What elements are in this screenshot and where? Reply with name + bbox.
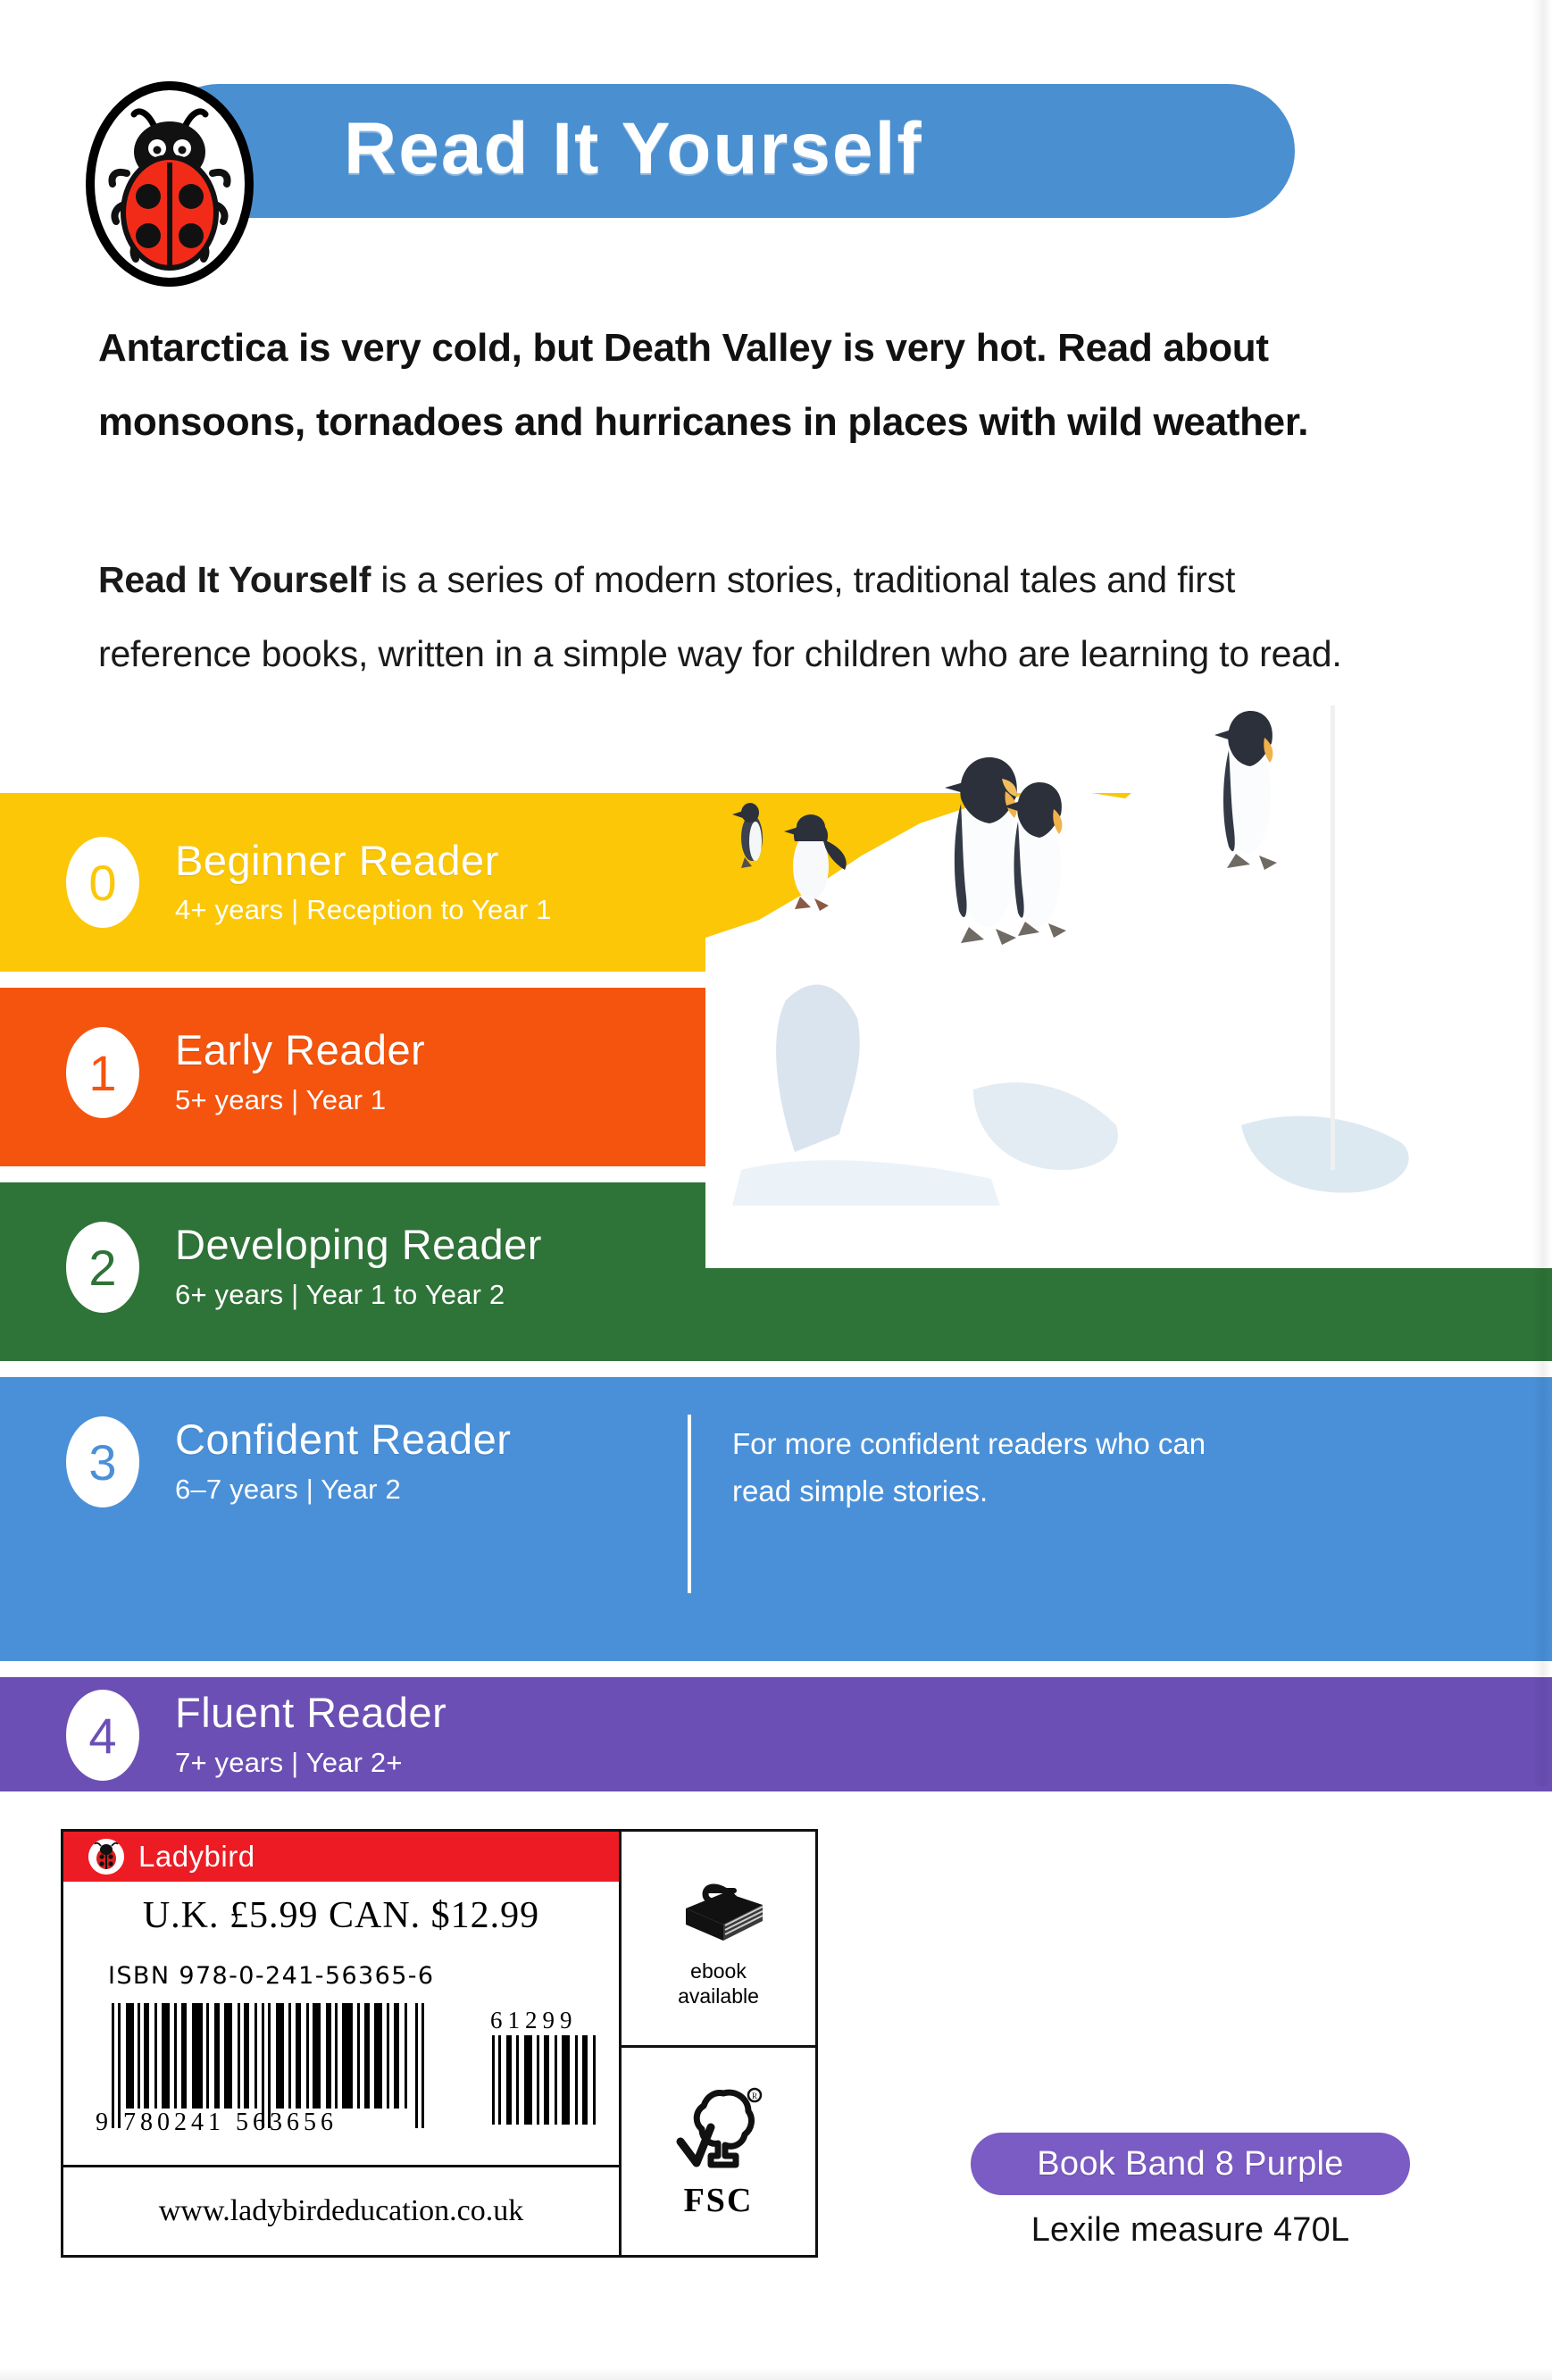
addon-barcode — [490, 2035, 606, 2125]
series-name-inline: Read It Yourself — [98, 559, 371, 600]
book-back-cover: Read It Yourself — [0, 0, 1552, 2380]
level-subtitle-2: 6+ years | Year 1 to Year 2 — [175, 1279, 505, 1311]
price-line: U.K. £5.99 CAN. $12.99 — [63, 1894, 619, 1937]
ebook-caption-line2: available — [678, 1983, 759, 2008]
reading-level-band-0: 0 Beginner Reader 4+ years | Reception t… — [0, 793, 1552, 972]
reading-level-band-3: 3 Confident Reader 6–7 years | Year 2 Fo… — [0, 1377, 1552, 1661]
ladybird-small-icon — [88, 1839, 124, 1875]
publisher-website[interactable]: www.ladybirdeducation.co.uk — [63, 2165, 619, 2255]
publisher-name: Ladybird — [138, 1840, 255, 1874]
series-title: Read It Yourself — [344, 100, 1237, 198]
fsc-label: FSC — [684, 2181, 754, 2220]
level-title-2: Developing Reader — [175, 1220, 542, 1269]
fsc-tree-icon: R — [670, 2081, 768, 2179]
svg-text:R: R — [751, 2092, 756, 2100]
level-number-circle-2: 2 — [66, 1222, 139, 1313]
ebook-caption-line1: ebook — [678, 1958, 759, 1983]
level-description-divider — [688, 1415, 691, 1593]
level-subtitle-0: 4+ years | Reception to Year 1 — [175, 894, 552, 926]
level-number-circle-0: 0 — [66, 837, 139, 928]
level-number-circle-4: 4 — [66, 1690, 139, 1781]
fsc-badge: R FSC — [622, 2045, 815, 2255]
addon-barcode-digits: 61299 — [490, 2007, 615, 2034]
level-description-3: For more confident readers who can read … — [732, 1420, 1268, 1515]
series-header: Read It Yourself — [0, 70, 1552, 230]
level-subtitle-1: 5+ years | Year 1 — [175, 1084, 386, 1116]
series-description: Read It Yourself is a series of modern s… — [98, 543, 1366, 691]
level-number-0: 0 — [88, 854, 116, 912]
level-subtitle-4: 7+ years | Year 2+ — [175, 1747, 403, 1779]
level-number-1: 1 — [88, 1044, 116, 1102]
reading-level-band-4: 4 Fluent Reader 7+ years | Year 2+ — [0, 1677, 1552, 1791]
book-blurb-bold: Antarctica is very cold, but Death Valle… — [98, 311, 1348, 459]
level-title-1: Early Reader — [175, 1025, 425, 1074]
reading-level-band-2: 2 Developing Reader 6+ years | Year 1 to… — [0, 1182, 1552, 1361]
level-number-circle-1: 1 — [66, 1027, 139, 1118]
level-title-4: Fluent Reader — [175, 1688, 446, 1737]
level-number-3: 3 — [88, 1433, 116, 1491]
certification-column: ebook available R FSC — [619, 1832, 815, 2255]
barcode-digits: 9 780241 563656 — [96, 2109, 480, 2137]
level-title-3: Confident Reader — [175, 1415, 511, 1464]
publisher-bar: Ladybird — [63, 1832, 619, 1882]
reading-level-band-1: 1 Early Reader 5+ years | Year 1 — [0, 988, 1552, 1166]
level-number-4: 4 — [88, 1707, 116, 1765]
ebook-caption: ebook available — [678, 1958, 759, 2008]
lexile-measure: Lexile measure 470L — [971, 2211, 1410, 2250]
ebook-icon — [670, 1869, 768, 1950]
page-edge-shadow-right — [1532, 0, 1552, 1786]
isbn-line: ISBN 978-0-241-56365-6 — [108, 1962, 435, 1990]
barcode-block: Ladybird U.K. £5.99 CAN. $12.99 ISBN 978… — [61, 1829, 818, 2258]
ladybird-logo-icon — [71, 70, 268, 311]
reading-level-bands: 0 Beginner Reader 4+ years | Reception t… — [0, 793, 1552, 1784]
level-title-0: Beginner Reader — [175, 836, 499, 885]
level-number-2: 2 — [88, 1239, 116, 1297]
level-subtitle-3: 6–7 years | Year 2 — [175, 1474, 401, 1506]
page-edge-shadow-bottom — [0, 2367, 1552, 2380]
level-number-circle-3: 3 — [66, 1416, 139, 1507]
ebook-available-badge: ebook available — [622, 1832, 815, 2048]
book-band-badge: Book Band 8 Purple — [971, 2133, 1410, 2195]
